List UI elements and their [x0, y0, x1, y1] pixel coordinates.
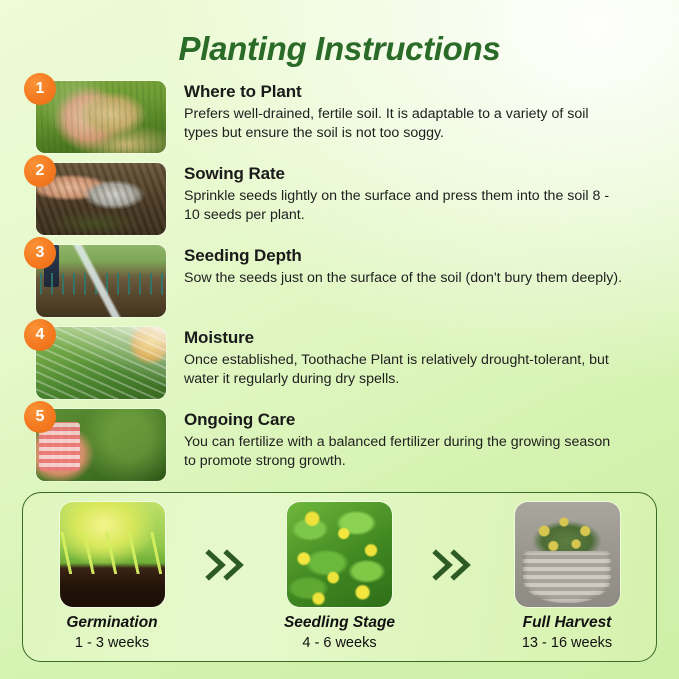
double-chevron-right-icon [427, 542, 479, 588]
planting-instructions-infographic: Planting Instructions 1 Where to Plant P… [0, 0, 679, 679]
step-thumbnail-wrap: 4 [36, 327, 166, 399]
step-text: Seeding Depth Sow the seeds just on the … [184, 245, 657, 288]
step-text: Where to Plant Prefers well-drained, fer… [184, 81, 657, 143]
timeline-stage-harvest: Full Harvest 13 - 16 weeks [502, 502, 632, 651]
step-body: You can fertilize with a balanced fertil… [184, 433, 624, 471]
timeline-stage-germination: Germination 1 - 3 weeks [47, 502, 177, 651]
stage-duration: 1 - 3 weeks [47, 635, 177, 652]
step-item: 1 Where to Plant Prefers well-drained, f… [36, 81, 657, 157]
stage-name: Full Harvest [502, 614, 632, 632]
step-heading: Moisture [184, 328, 657, 348]
step-body: Sow the seeds just on the surface of the… [184, 269, 624, 288]
step-thumbnail-wrap: 3 [36, 245, 166, 317]
step-thumbnail-wrap: 5 [36, 409, 166, 481]
step-body: Sprinkle seeds lightly on the surface an… [184, 187, 624, 225]
step-body: Prefers well-drained, fertile soil. It i… [184, 105, 624, 143]
step-text: Ongoing Care You can fertilize with a ba… [184, 409, 657, 471]
stage-name: Germination [47, 614, 177, 632]
page-title: Planting Instructions [0, 0, 679, 67]
stage-name: Seedling Stage [275, 614, 405, 632]
steps-list: 1 Where to Plant Prefers well-drained, f… [0, 81, 679, 485]
step-item: 5 Ongoing Care You can fertilize with a … [36, 409, 657, 485]
step-body: Once established, Toothache Plant is rel… [184, 351, 624, 389]
step-text: Sowing Rate Sprinkle seeds lightly on th… [184, 163, 657, 225]
step-heading: Sowing Rate [184, 164, 657, 184]
stage-duration: 13 - 16 weeks [502, 635, 632, 652]
step-heading: Where to Plant [184, 82, 657, 102]
step-heading: Seeding Depth [184, 246, 657, 266]
step-item: 3 Seeding Depth Sow the seeds just on th… [36, 245, 657, 321]
step-thumbnail-wrap: 2 [36, 163, 166, 235]
green-leaves-yellow-buds-photo [287, 502, 392, 607]
step-heading: Ongoing Care [184, 410, 657, 430]
growth-timeline-panel: Germination 1 - 3 weeks Seedling Stage 4… [22, 492, 657, 662]
step-text: Moisture Once established, Toothache Pla… [184, 327, 657, 389]
timeline-stage-seedling: Seedling Stage 4 - 6 weeks [275, 502, 405, 651]
stage-duration: 4 - 6 weeks [275, 635, 405, 652]
step-thumbnail-wrap: 1 [36, 81, 166, 153]
step-item: 4 Moisture Once established, Toothache P… [36, 327, 657, 403]
step-item: 2 Sowing Rate Sprinkle seeds lightly on … [36, 163, 657, 239]
double-chevron-right-icon [200, 542, 252, 588]
wicker-basket-yellow-flowers-photo [515, 502, 620, 607]
seedlings-sprouting-soil-photo [60, 502, 165, 607]
